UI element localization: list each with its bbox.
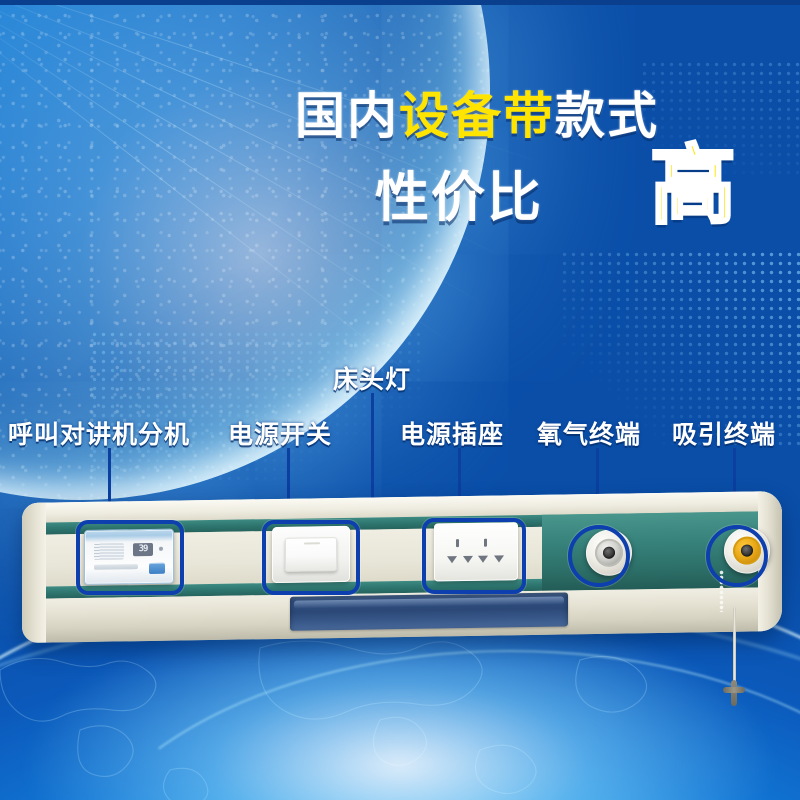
headline-part-1: 国内 (295, 87, 399, 145)
callout-label-2: 电源开关 (228, 415, 332, 451)
highlight-power-socket (422, 518, 526, 594)
highlight-oxygen-terminal (568, 525, 630, 587)
headline-accent-character: 高 (650, 140, 738, 232)
reading-light-strip (290, 592, 568, 630)
headline-line-1: 国内设备带款式 (295, 88, 659, 144)
highlight-intercom (76, 520, 184, 595)
headline-line-2: 性价比 (375, 168, 543, 228)
highlight-light-switch (262, 520, 360, 595)
pull-cord-handle-stem (731, 680, 737, 706)
top-edge-bar (0, 0, 800, 5)
callout-label-6: 吸引终端 (672, 415, 776, 451)
callout-label-1: 呼叫对讲机分机 (8, 415, 190, 451)
callout-label-3: 床头灯 (333, 360, 411, 396)
pull-cord-handle-bar (723, 687, 745, 693)
headline-part-3: 款式 (555, 87, 659, 145)
callout-label-5: 氧气终端 (537, 415, 641, 451)
headline-part-2: 设备带 (399, 87, 555, 145)
panel-end-cap-left (22, 503, 46, 643)
highlight-suction-terminal (706, 525, 768, 587)
pull-cord-handle[interactable] (723, 680, 745, 706)
callout-label-4: 电源插座 (400, 415, 504, 451)
